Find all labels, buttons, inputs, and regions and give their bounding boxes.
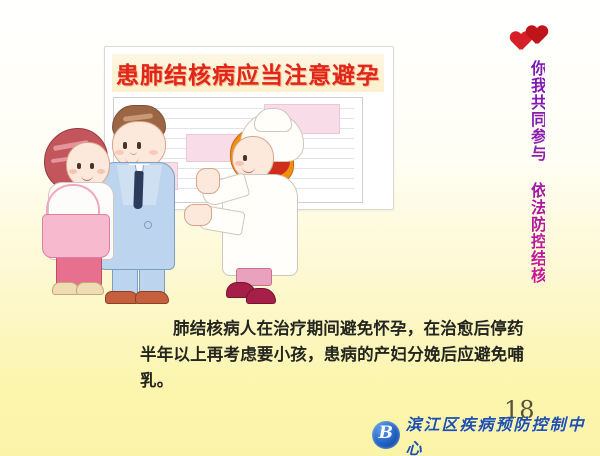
illustration-area: 患肺结核病应当注意避孕 (0, 0, 420, 312)
heart-icon (526, 26, 548, 46)
woman-blush-left (69, 169, 77, 174)
man-nose (130, 149, 137, 155)
poster-title-text: 患肺结核病应当注意避孕 (116, 56, 380, 90)
woman-pink-handbag (42, 214, 110, 258)
woman-mouth (81, 175, 93, 181)
body-paragraph: 肺结核病人在治疗期间避免怀孕，在治愈后停药半年以上再考虑要小孩，患病的产妇分娩后… (140, 316, 532, 394)
organization-logo-icon: B (372, 421, 400, 449)
organization-name: 滨江区疾病预防控制中心 (406, 411, 600, 456)
woman-eye-right (90, 163, 94, 169)
doctor-eye (243, 155, 247, 161)
woman-shoe-right (76, 282, 104, 295)
man-blush-right (149, 150, 158, 155)
man-shoe-right (135, 291, 169, 304)
slide-canvas: 患肺结核病应当注意避孕 (0, 0, 600, 456)
figure-woman-with-bag (42, 128, 124, 306)
slogan-text: 你我共同参与 依法防控结核 (528, 60, 545, 284)
figure-female-doctor (214, 112, 310, 312)
man-suit-button (144, 221, 152, 229)
doctor-mouth (242, 167, 255, 173)
woman-blush-right (97, 169, 105, 174)
doctor-blush (235, 161, 244, 166)
doctor-open-hand (184, 204, 212, 226)
logo-letter: B (372, 423, 400, 443)
man-necktie (133, 171, 143, 209)
man-eye-right (137, 142, 141, 149)
doctor-shoe-right (246, 288, 276, 304)
doctor-cap-top (254, 108, 292, 132)
woman-eye-left (77, 163, 81, 169)
poster-title-banner: 患肺结核病应当注意避孕 (112, 54, 384, 92)
slogan-block: 你我共同参与 依法防控结核 (506, 24, 568, 274)
two-hearts-icon (510, 24, 564, 58)
footer-organization: B 滨江区疾病预防控制中心 (372, 418, 600, 452)
doctor-pointing-hand (196, 168, 220, 194)
